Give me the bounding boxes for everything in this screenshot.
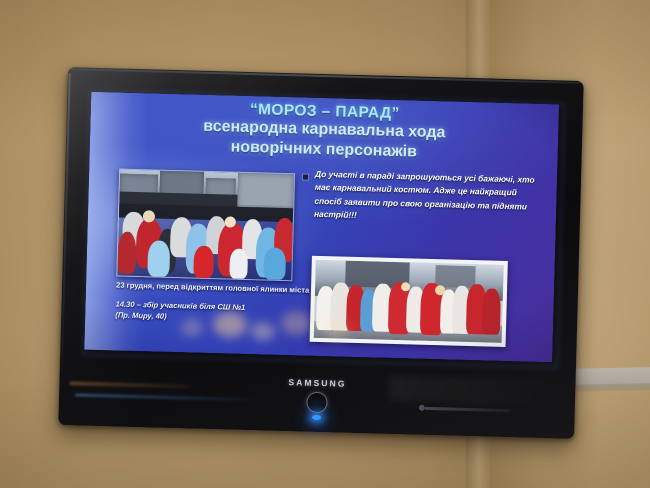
- tv-screen[interactable]: “МОРОЗ – ПАРАД” всенародна карнавальна х…: [84, 92, 559, 363]
- photo-scene: “МОРОЗ – ПАРАД” всенародна карнавальна х…: [0, 0, 650, 488]
- bezel-reflection-right: [389, 376, 550, 404]
- samsung-television[interactable]: “МОРОЗ – ПАРАД” всенародна карнавальна х…: [58, 67, 583, 439]
- standby-led-indicator: [312, 415, 321, 420]
- screen-vignette: [84, 92, 559, 363]
- presentation-slide: “МОРОЗ – ПАРАД” всенародна карнавальна х…: [84, 92, 559, 363]
- samsung-logo: SAMSUNG: [288, 377, 346, 389]
